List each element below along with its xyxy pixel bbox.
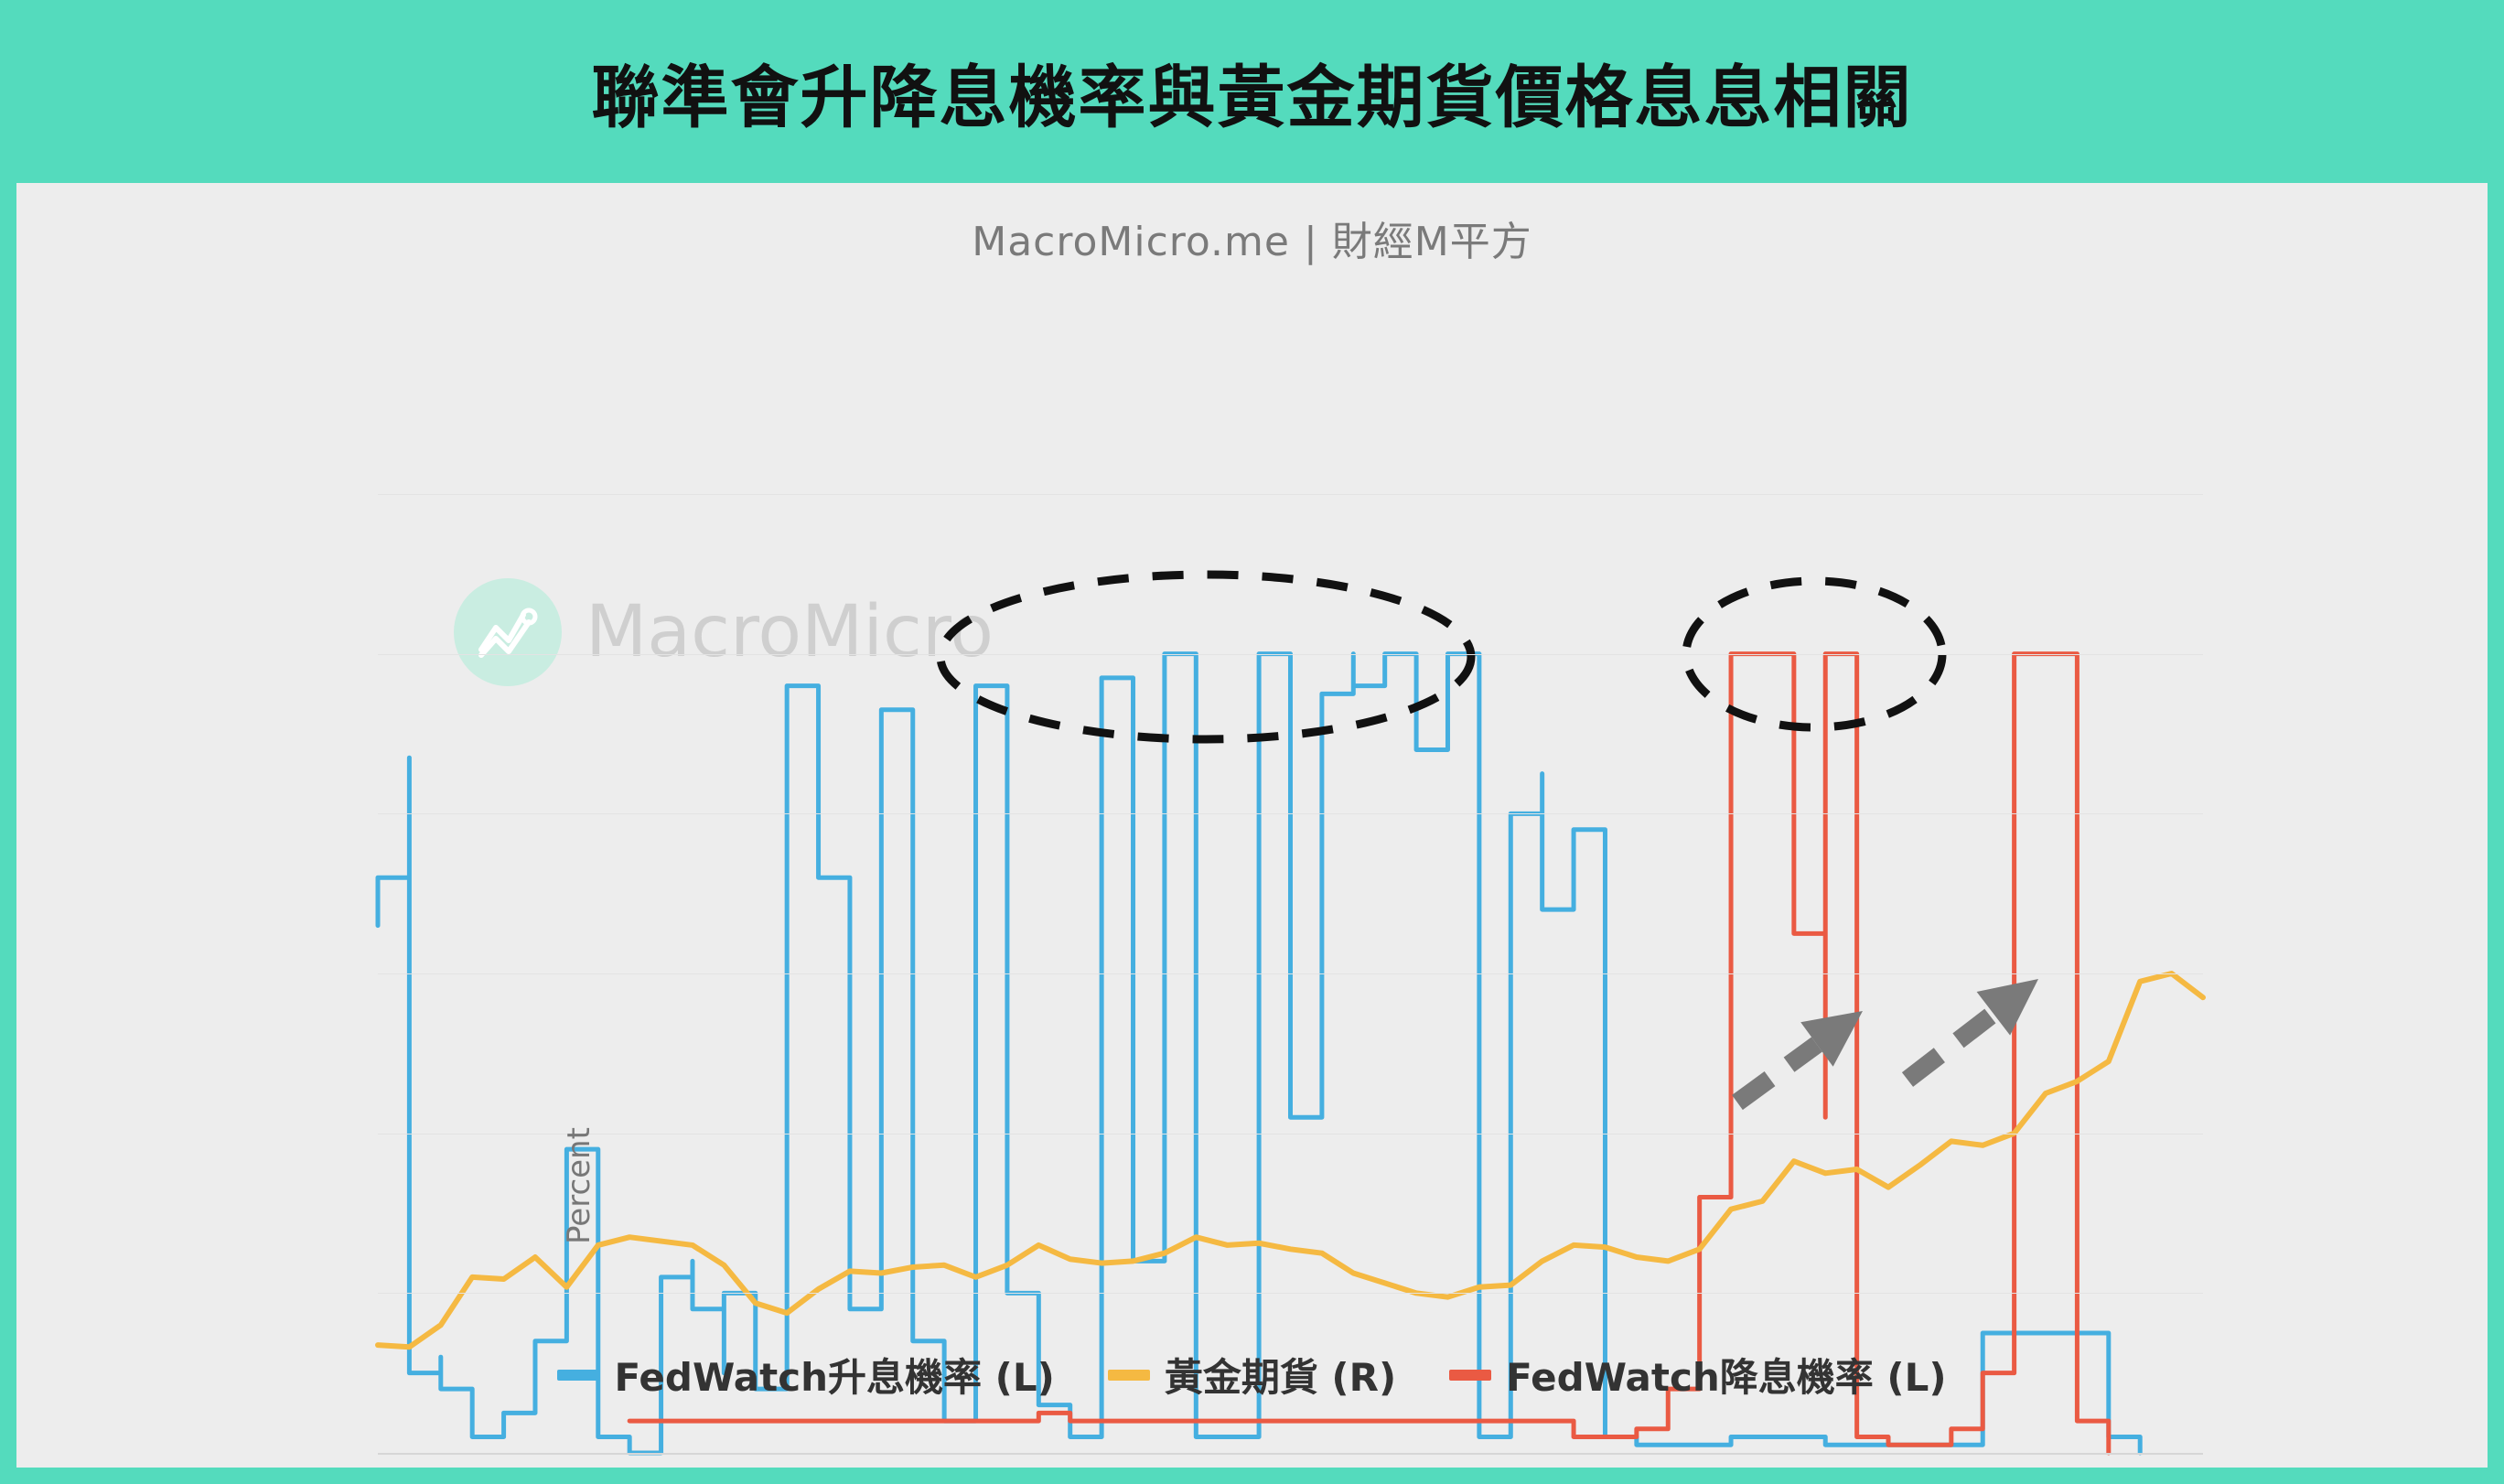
title-banner: 聯準會升降息機率與黃金期貨價格息息相關 [0,0,2504,183]
legend-item-label: FedWatch升息機率 (L) [614,1347,1054,1403]
highlight-ellipse-rate-hike [940,575,1471,739]
source-attribution: MacroMicro.me | 財經M平方 [16,209,2488,267]
gridline [378,973,2203,974]
y-axis-left-title: Percent [561,1127,597,1244]
legend-item[interactable]: FedWatch升息機率 (L) [557,1347,1054,1403]
gridline [378,1293,2203,1294]
gridline [378,654,2203,655]
legend-item-label: FedWatch降息機率 (L) [1506,1347,1946,1403]
gridline [378,1134,2203,1135]
trend-arrow-gold-2 [1908,979,2038,1080]
legend-item[interactable]: 黃金期貨 (R) [1108,1347,1396,1403]
plot-area: 0800201200401600602000802400100280012032… [378,494,2203,1453]
chart-legend: FedWatch升息機率 (L)黃金期貨 (R)FedWatch降息機率 (L) [16,1347,2488,1403]
legend-item[interactable]: FedWatch降息機率 (L) [1449,1347,1946,1403]
chart-page: 聯準會升降息機率與黃金期貨價格息息相關 MacroMicro.me | 財經M平… [0,0,2504,1484]
gridline [378,813,2203,814]
legend-color-swatch [1108,1370,1150,1381]
arrow-shaft [1908,1014,1994,1080]
legend-color-swatch [1449,1370,1491,1381]
legend-item-label: 黃金期貨 (R) [1165,1347,1396,1403]
trend-arrow-gold-1 [1737,1011,1863,1102]
arrow-shaft [1737,1045,1817,1102]
legend-color-swatch [557,1370,599,1381]
gridline [378,1453,2203,1455]
page-title: 聯準會升降息機率與黃金期貨價格息息相關 [592,43,1913,141]
gridline [378,494,2203,495]
chart-card: MacroMicro.me | 財經M平方 MacroMicro 0800201… [16,183,2488,1468]
